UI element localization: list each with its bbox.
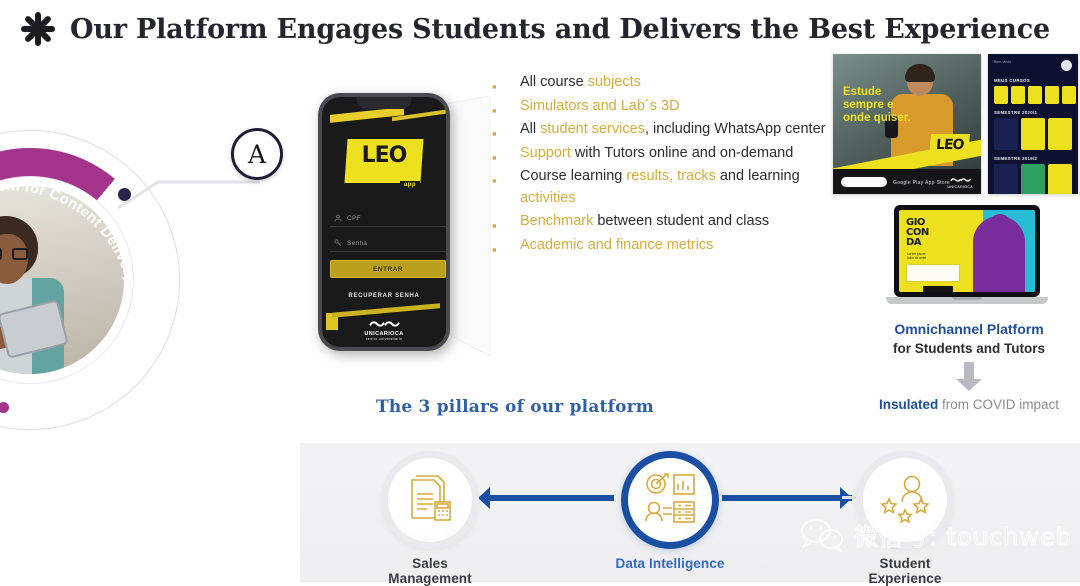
bullet-dot-icon: ▪ [492,211,520,233]
plain-text: , including WhatsApp center [645,121,826,137]
bullet-text: Course learning results, tracks and lear… [520,166,844,209]
pillars-heading: The 3 pillars of our platform [300,397,730,417]
phone-notch [357,97,411,109]
leo-app-logo: LEO app [344,135,424,191]
bullet-dot-icon: ▪ [492,119,520,141]
bullet-item: ▪Academic and finance metrics [492,235,844,257]
insulated-bold: Insulated [879,397,938,412]
ad-store-badges: Google Play App Store [893,180,950,186]
wechat-watermark: 微信号: touchweb [800,517,1072,552]
highlighted-term: Academic and finance metrics [520,237,713,253]
bullet-text: All student services, including WhatsApp… [520,119,825,141]
highlighted-term: subjects [588,74,641,90]
asterisk-icon [18,8,58,50]
ad-headline: Estude sempre e onde quiser. [843,86,915,125]
avatar [1061,60,1072,71]
decorative-streak [332,303,440,317]
bullet-dot-icon: ▪ [492,72,520,94]
pillar-ring [381,451,479,549]
pillar-sales-management[interactable]: Sales Management [370,451,490,586]
bullet-item: ▪Simulators and Lab´s 3D [492,96,844,118]
app-dashboard-screenshot: Bem-vindo MEUS CURSOS SEMESTRE 2020/1 SE… [988,54,1078,194]
phone-mockup: LEO app CPF Senha ENTRAR RECUPERAR SENHA… [318,93,450,351]
omnichannel-subtitle: for Students and Tutors [860,340,1078,358]
target-chart-database-icon [641,472,699,528]
down-arrow-icon [955,362,983,392]
gioconda-title: GIOCONDA [906,218,929,248]
bullet-text: Benchmark between student and class [520,211,769,233]
cpf-placeholder: CPF [347,215,361,222]
password-placeholder: Senha [347,240,367,247]
bullet-text: All course subjects [520,72,641,94]
highlighted-term: activities [520,190,576,206]
bullet-text: Support with Tutors online and on-demand [520,143,793,165]
marker-badge-a: A [231,128,283,180]
omnichannel-title: Omnichannel Platform [860,320,1078,338]
highlighted-term: results, tracks [626,168,715,184]
insulated-note: Insulated from COVID impact [860,396,1078,414]
password-field[interactable]: Senha [330,235,446,252]
leo-app-ad-image: Estude sempre e onde quiser. LEO Google … [833,54,981,194]
highlighted-term: student services [540,121,645,137]
plain-text: All course [520,74,588,90]
ad-leo-logo: LEO [929,134,970,156]
plain-text: All [520,121,540,137]
brand-subtitle: centro universitario [322,337,446,341]
key-icon [334,239,342,247]
insulated-rest: from COVID impact [938,397,1059,412]
plain-text: and learning [716,168,800,184]
wechat-id-text: 微信号: touchweb [854,517,1072,552]
documents-calculator-icon [402,472,458,528]
pillar-ring [621,451,719,549]
bullet-item: ▪All course subjects [492,72,844,94]
forgot-password-link[interactable]: RECUPERAR SENHA [322,293,446,299]
bullet-text: Simulators and Lab´s 3D [520,96,680,118]
app-section-label: SEMESTRE 2020/1 [994,110,1037,115]
page-header: Our Platform Engages Students and Delive… [0,6,1000,52]
pillar-label: Data Intelligence [610,556,730,571]
bullet-text: Academic and finance metrics [520,235,713,257]
app-greeting: Bem-vindo [994,60,1011,65]
highlighted-term: Benchmark [520,213,593,229]
page-title: Our Platform Engages Students and Delive… [70,14,1050,45]
unicarioca-logo: 〜〜 UNICARIOCA centro universitario [322,320,446,341]
bullet-dot-icon: ▪ [492,96,520,118]
plain-text: Course learning [520,168,626,184]
bullet-dot-icon: ▪ [492,235,520,257]
cpf-field[interactable]: CPF [330,210,446,227]
feature-bullet-list: ▪All course subjects▪Simulators and Lab´… [492,72,844,258]
pillar-data-intelligence[interactable]: Data Intelligence [610,451,730,571]
leo-logo-text: LEO [344,143,424,168]
highlighted-term: Support [520,145,571,161]
bullet-dot-icon: ▪ [492,143,520,165]
phone-screen: LEO app CPF Senha ENTRAR RECUPERAR SENHA… [322,97,446,347]
user-icon [334,214,342,222]
plain-text: with Tutors online and on-demand [571,145,793,161]
bullet-item: ▪Benchmark between student and class [492,211,844,233]
plain-text: between student and class [593,213,769,229]
wechat-icon [800,518,846,552]
bullet-item: ▪Support with Tutors online and on-deman… [492,143,844,165]
gioconda-laptop-mockup: GIOCONDA Lorem ipsumdolor sit amet [886,205,1048,309]
app-section-label: MEUS CURSOS [994,78,1030,83]
ad-brand-logo: 〜〜 UNICARIOCA [947,177,973,189]
leo-logo-badge: app [400,181,420,189]
bullet-dot-icon: ▪ [492,166,520,209]
book-mark-icon: 〜〜 [322,320,446,331]
login-button[interactable]: ENTRAR [330,260,446,278]
highlighted-term: Simulators and Lab´s 3D [520,98,680,114]
bullet-item: ▪All student services, including WhatsAp… [492,119,844,141]
bullet-item: ▪Course learning results, tracks and lea… [492,166,844,209]
app-section-label: SEMESTRE 2019/2 [994,156,1037,161]
